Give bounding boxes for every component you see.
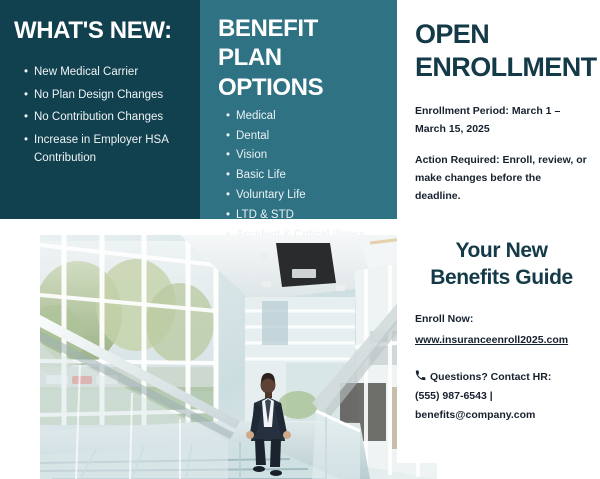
hr-phone-number[interactable]: (555) 987-6543 | [415, 387, 588, 406]
list-item: No Contribution Changes [24, 108, 186, 127]
list-item: Basic Life [226, 167, 387, 185]
phone-icon [415, 370, 426, 381]
brochure-page: WHAT'S NEW: New Medical Carrier No Plan … [0, 0, 600, 463]
hr-email-address[interactable]: benefits@company.com [415, 406, 588, 425]
enroll-url-link[interactable]: www.insuranceenroll2025.com [415, 331, 568, 350]
contact-block: Questions? Contact HR: (555) 987-6543 | … [415, 368, 588, 424]
benefits-guide-title: Your New Benefits Guide [415, 238, 588, 292]
list-item: LTD & STD [226, 207, 387, 225]
benefit-options-list: Medical Dental Vision Basic Life Volunta… [218, 108, 387, 245]
enrollment-period-text: Enrollment Period: March 1 – March 15, 2… [415, 102, 588, 139]
list-item: Voluntary Life [226, 187, 387, 205]
page-title: OPEN ENROLLMENT [415, 18, 588, 84]
whats-new-heading: WHAT'S NEW: [14, 18, 186, 45]
list-item: Vision [226, 147, 387, 165]
list-item: No Plan Design Changes [24, 86, 186, 105]
whats-new-list: New Medical Carrier No Plan Design Chang… [14, 63, 186, 168]
list-item: Medical [226, 108, 387, 126]
enroll-now-label: Enroll Now: [415, 310, 588, 329]
office-interior-photo [40, 235, 437, 479]
benefit-plan-options-panel: BENEFIT PLAN OPTIONS Medical Dental Visi… [200, 0, 397, 219]
contact-hr-prompt: Questions? Contact HR: [430, 368, 551, 387]
action-required-text: Action Required: Enroll, review, or make… [415, 151, 588, 206]
list-item: Increase in Employer HSA Contribution [24, 131, 186, 168]
open-enrollment-panel: OPEN ENROLLMENT Enrollment Period: March… [397, 0, 600, 463]
whats-new-panel: WHAT'S NEW: New Medical Carrier No Plan … [0, 0, 200, 219]
benefit-options-heading: BENEFIT PLAN OPTIONS [218, 14, 387, 102]
list-item: Dental [226, 128, 387, 146]
list-item: New Medical Carrier [24, 63, 186, 82]
